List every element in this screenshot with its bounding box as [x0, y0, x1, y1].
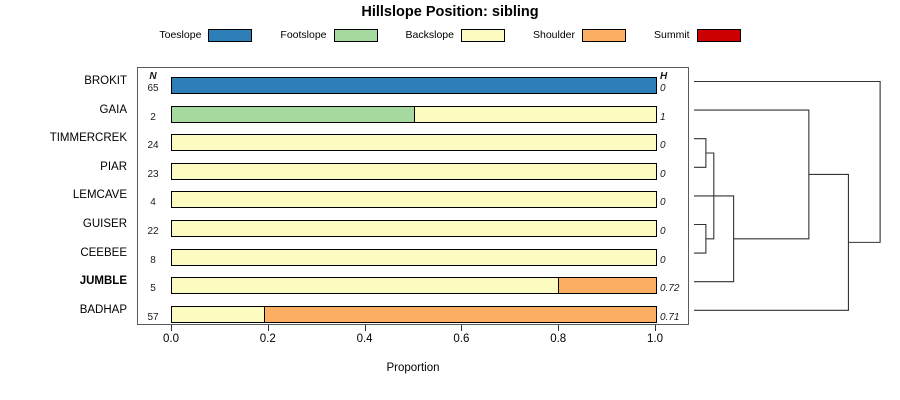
y-axis-labels: BROKITGAIATIMMERCREKPIARLEMCAVEGUISERCEE… — [0, 67, 133, 325]
legend-color-swatch — [208, 29, 252, 42]
chart-row: 21 — [138, 103, 690, 132]
dendrogram-branch — [694, 82, 880, 243]
stacked-bar — [171, 191, 657, 208]
dendrogram-branch — [694, 225, 706, 254]
x-axis-tick — [365, 325, 366, 331]
row-h-value: 0 — [660, 197, 690, 208]
y-axis-tick-label: PIAR — [0, 161, 127, 173]
bar-segment-toeslope — [172, 78, 656, 93]
dendrogram-branch — [694, 174, 848, 310]
row-n-value: 65 — [138, 83, 168, 94]
legend-item: Footslope — [280, 29, 377, 42]
legend-item-label: Footslope — [280, 29, 326, 41]
legend-color-swatch — [461, 29, 505, 42]
row-h-value: 0 — [660, 255, 690, 266]
dendrogram-branch — [694, 139, 706, 168]
y-axis-tick-label: BADHAP — [0, 304, 127, 316]
row-h-value: 0 — [660, 169, 690, 180]
chart-row: 220 — [138, 217, 690, 246]
bar-segment-backslope — [172, 192, 656, 207]
row-h-value: 0 — [660, 83, 690, 94]
x-axis-tick-label: 1.0 — [635, 333, 675, 345]
row-n-value: 4 — [138, 197, 168, 208]
bar-segment-backslope — [172, 250, 656, 265]
row-n-value: 24 — [138, 140, 168, 151]
stacked-bar — [171, 306, 657, 323]
stacked-bar — [171, 277, 657, 294]
bar-segment-backslope — [172, 307, 264, 322]
bar-segment-backslope — [172, 221, 656, 236]
dendrogram-svg — [689, 60, 900, 340]
y-axis-tick-label: TIMMERCREK — [0, 132, 127, 144]
row-n-value: 23 — [138, 169, 168, 180]
row-n-value: 5 — [138, 283, 168, 294]
y-axis-tick-label: LEMCAVE — [0, 189, 127, 201]
x-axis: 0.00.20.40.60.81.0 — [137, 325, 689, 326]
legend-item: Backslope — [406, 29, 505, 42]
row-h-value: 0 — [660, 140, 690, 151]
chart-row: 650 — [138, 74, 690, 103]
stacked-bar — [171, 249, 657, 266]
dendrogram — [689, 60, 900, 340]
x-axis-tick — [268, 325, 269, 331]
bar-segment-shoulder — [558, 278, 656, 293]
chart-root: Hillslope Position: sibling ToeslopeFoot… — [0, 0, 900, 400]
bar-segment-backslope — [172, 135, 656, 150]
legend-color-swatch — [697, 29, 741, 42]
x-axis-tick — [558, 325, 559, 331]
bar-segment-backslope — [414, 107, 657, 122]
y-axis-tick-label: GUISER — [0, 218, 127, 230]
y-axis-tick-label: BROKIT — [0, 75, 127, 87]
legend-item-label: Toeslope — [159, 29, 201, 41]
x-axis-tick-label: 0.4 — [345, 333, 385, 345]
stacked-bar — [171, 163, 657, 180]
bar-segment-backslope — [172, 164, 656, 179]
row-n-value: 22 — [138, 226, 168, 237]
chart-row: 570.71 — [138, 303, 690, 332]
x-axis-tick-label: 0.0 — [151, 333, 191, 345]
stacked-bar — [171, 134, 657, 151]
row-n-value: 57 — [138, 312, 168, 323]
dendrogram-branch — [694, 110, 809, 239]
legend-item-label: Shoulder — [533, 29, 575, 41]
legend: ToeslopeFootslopeBackslopeShoulderSummit — [0, 26, 900, 44]
chart-row: 80 — [138, 246, 690, 275]
bar-segment-backslope — [172, 278, 558, 293]
x-axis-tick — [171, 325, 172, 331]
legend-item-label: Summit — [654, 29, 690, 41]
stacked-bar — [171, 77, 657, 94]
chart-row: 40 — [138, 188, 690, 217]
legend-item: Summit — [654, 29, 741, 42]
bar-segment-footslope — [172, 107, 414, 122]
x-axis-tick-label: 0.8 — [538, 333, 578, 345]
y-axis-tick-label: JUMBLE — [0, 275, 127, 287]
x-axis-title: Proportion — [137, 362, 689, 374]
stacked-bar — [171, 106, 657, 123]
x-axis-tick — [461, 325, 462, 331]
row-h-value: 0.72 — [660, 283, 690, 294]
row-h-value: 1 — [660, 112, 690, 123]
bar-segment-shoulder — [264, 307, 656, 322]
chart-row: 240 — [138, 131, 690, 160]
x-axis-tick-label: 0.6 — [441, 333, 481, 345]
stacked-bar-panel: NH65021240230402208050.72570.71 — [137, 67, 689, 325]
x-axis-tick — [655, 325, 656, 331]
row-h-value: 0 — [660, 226, 690, 237]
legend-color-swatch — [334, 29, 378, 42]
legend-item-label: Backslope — [406, 29, 454, 41]
row-n-value: 8 — [138, 255, 168, 266]
y-axis-tick-label: GAIA — [0, 104, 127, 116]
legend-item: Toeslope — [159, 29, 252, 42]
legend-color-swatch — [582, 29, 626, 42]
y-axis-tick-label: CEEBEE — [0, 247, 127, 259]
page-title: Hillslope Position: sibling — [0, 4, 900, 20]
legend-item: Shoulder — [533, 29, 626, 42]
row-n-value: 2 — [138, 112, 168, 123]
row-h-value: 0.71 — [660, 312, 690, 323]
stacked-bar — [171, 220, 657, 237]
chart-row: 50.72 — [138, 274, 690, 303]
x-axis-tick-label: 0.2 — [248, 333, 288, 345]
chart-row: 230 — [138, 160, 690, 189]
